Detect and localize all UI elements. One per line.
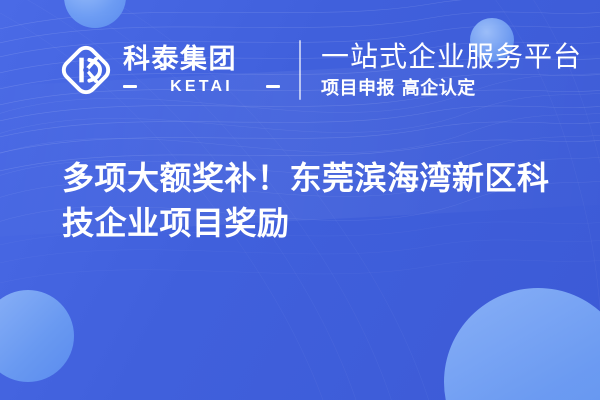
brand-name-cn: 科泰集团 xyxy=(123,45,280,75)
tagline-sub: 项目申报 高企认定 xyxy=(321,78,582,100)
brand-name-en-row: KETAI xyxy=(123,78,280,96)
circle-bottom-right xyxy=(444,288,600,400)
banner-header: 科泰集团 KETAI 一站式企业服务平台 项目申报 高企认定 xyxy=(58,40,582,100)
tagline-main: 一站式企业服务平台 xyxy=(321,41,582,73)
promo-banner: 科泰集团 KETAI 一站式企业服务平台 项目申报 高企认定 多项大额奖补！东莞… xyxy=(0,0,600,400)
vertical-divider xyxy=(299,40,301,100)
dash-left-icon xyxy=(123,85,137,88)
kd-diamond-monogram-icon xyxy=(58,42,114,98)
tagline-block: 一站式企业服务平台 项目申报 高企认定 xyxy=(321,41,582,100)
circle-top-left xyxy=(64,0,126,28)
brand-wordmark: 科泰集团 KETAI xyxy=(123,45,280,96)
circle-bottom-left xyxy=(0,290,74,382)
brand-logo[interactable]: 科泰集团 KETAI xyxy=(58,42,280,98)
brand-name-en: KETAI xyxy=(142,78,261,96)
banner-headline: 多项大额奖补！东莞滨海湾新区科技企业项目奖励 xyxy=(62,156,552,246)
dash-right-icon xyxy=(266,85,280,88)
